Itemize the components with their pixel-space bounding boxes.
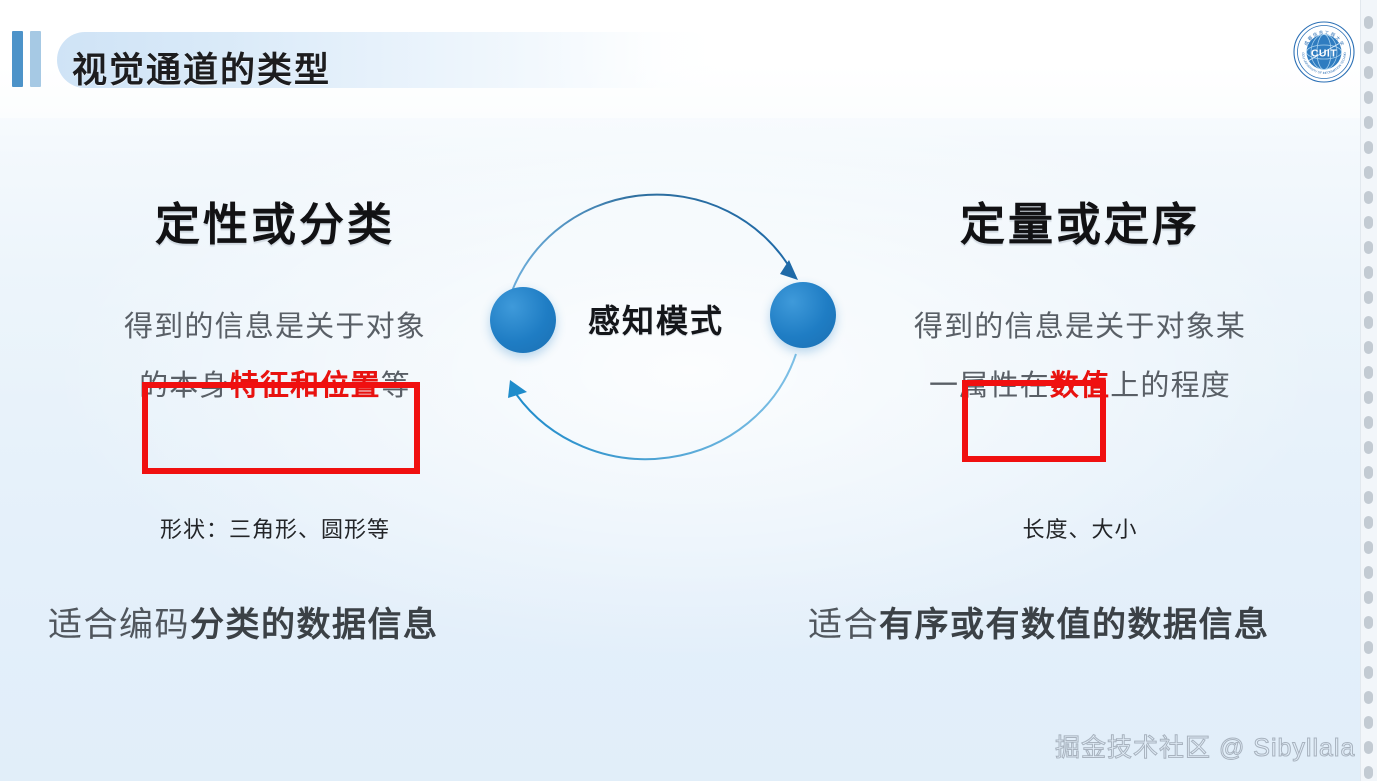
page-edge-dot — [1364, 216, 1373, 229]
page-title: 视觉通道的类型 — [72, 42, 331, 93]
page-edge-dot — [1364, 616, 1373, 629]
right-example: 长度、大小 — [830, 512, 1330, 544]
page-edge-dot — [1364, 716, 1373, 729]
page-edge-dot — [1364, 766, 1373, 779]
left-heading: 定性或分类 — [40, 200, 510, 250]
left-conclusion-pre: 适合编码 — [48, 606, 190, 644]
right-body-line-1: 得到的信息是关于对象某 — [830, 298, 1330, 357]
page-edge-dot — [1364, 541, 1373, 554]
page-edge-dot — [1364, 266, 1373, 279]
page-edge-dot — [1364, 416, 1373, 429]
accent-bar-light — [30, 31, 41, 87]
page-edge-dot — [1364, 241, 1373, 254]
page-edge-dot — [1364, 316, 1373, 329]
page-edge-dot — [1364, 141, 1373, 154]
page-edge-dot — [1364, 291, 1373, 304]
page-edge-dot — [1364, 16, 1373, 29]
page-edge-dot — [1364, 341, 1373, 354]
page-edge-dot — [1364, 41, 1373, 54]
page-edge-dot — [1364, 641, 1373, 654]
page-edge-dot — [1364, 741, 1373, 754]
page-edge-dot — [1364, 366, 1373, 379]
page-edge-dot — [1364, 516, 1373, 529]
page-edge-dot — [1364, 466, 1373, 479]
page-edge-dot — [1364, 566, 1373, 579]
right-highlight-box — [962, 380, 1106, 462]
page-edge-dot — [1364, 391, 1373, 404]
cuit-logo: CUIT 成 都 信 息 工 程 大 学 CHENGDU UNIVERSITY … — [1293, 21, 1355, 83]
page-edge-dot — [1364, 591, 1373, 604]
page-edge-dot — [1364, 491, 1373, 504]
cycle-node-right — [770, 282, 836, 348]
title-accent-bars — [12, 31, 50, 87]
slide-canvas: 视觉通道的类型 CUIT 成 都 信 息 工 程 大 学 CHENGDU UNI… — [0, 0, 1377, 781]
left-highlight-box — [142, 382, 420, 474]
right-conclusion-bold: 有序或有数值的数据信息 — [879, 606, 1270, 644]
right-heading: 定量或定序 — [830, 200, 1330, 250]
left-body-line-1: 得到的信息是关于对象 — [40, 298, 510, 357]
page-edge-strip — [1360, 0, 1377, 781]
page-edge-dot — [1364, 166, 1373, 179]
page-edge-dot — [1364, 666, 1373, 679]
page-edge-dot — [1364, 91, 1373, 104]
page-edge-dot — [1364, 441, 1373, 454]
right-body-line-2-post: 上的程度 — [1110, 370, 1231, 402]
left-example: 形状：三角形、圆形等 — [40, 512, 510, 544]
cycle-bottom-arc — [480, 330, 860, 520]
left-conclusion-bold: 分类的数据信息 — [190, 606, 439, 644]
right-conclusion-pre: 适合 — [808, 606, 879, 644]
diagram-center-label: 感知模式 — [588, 296, 724, 342]
left-example-wrap: 形状：三角形、圆形等 — [40, 512, 510, 544]
svg-text:CUIT: CUIT — [1311, 48, 1337, 60]
page-edge-dot — [1364, 691, 1373, 704]
page-edge-dot — [1364, 191, 1373, 204]
right-conclusion: 适合有序或有数值的数据信息 — [808, 597, 1270, 646]
page-edge-dot — [1364, 66, 1373, 79]
page-edge-dot — [1364, 116, 1373, 129]
watermark: 掘金技术社区 @ Sibyllala — [1055, 728, 1355, 764]
right-example-wrap: 长度、大小 — [830, 512, 1330, 544]
accent-bar-dark — [12, 31, 23, 87]
left-conclusion: 适合编码分类的数据信息 — [48, 597, 439, 646]
